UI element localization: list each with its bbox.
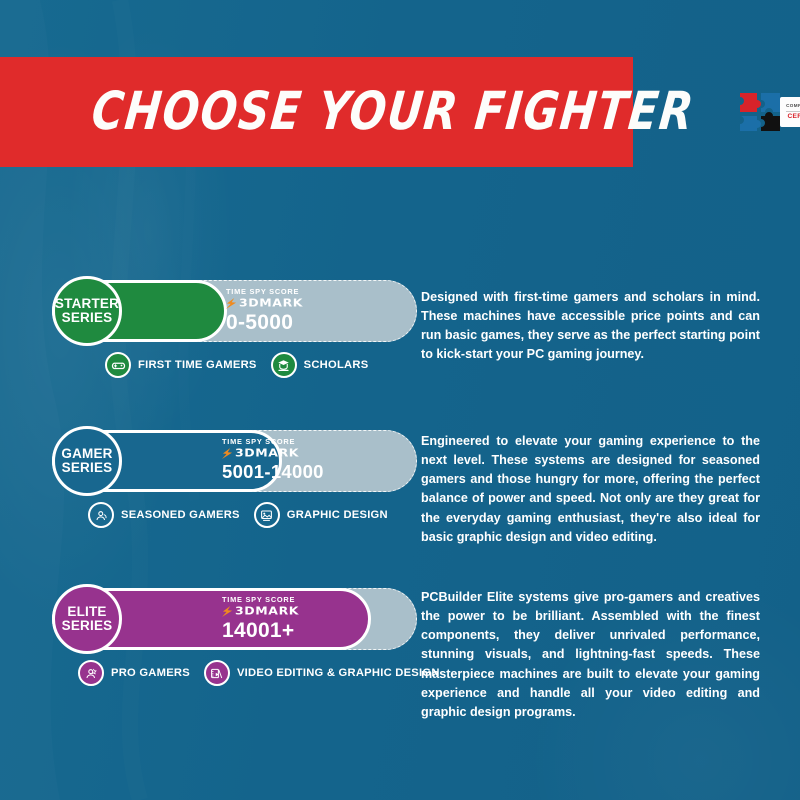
tag-video-editing-graphic-design[interactable]: VIDEO EDITING & GRAPHIC DESIGN <box>204 660 440 686</box>
3dmark-logo: 3DMARK <box>222 605 299 618</box>
description-elite: PCBuilder Elite systems give pro-gamers … <box>421 588 760 722</box>
score-label: TIME SPY SCORE <box>226 288 299 295</box>
series-badge-line1: STARTER <box>55 297 119 311</box>
tag-label: VIDEO EDITING & GRAPHIC DESIGN <box>237 667 440 679</box>
header-banner: CHOOSE YOUR FIGHTER COMPATIBILITY CERTIF… <box>0 57 633 167</box>
elite-tag-list: PRO GAMERS VIDEO EDITING & GRAPHIC DESIG… <box>78 660 440 686</box>
gamepad-icon <box>105 352 131 378</box>
3dmark-logo: 3DMARK <box>222 447 299 460</box>
graduation-desk-icon <box>271 352 297 378</box>
description-starter: Designed with first-time gamers and scho… <box>421 288 760 365</box>
score-label: TIME SPY SCORE <box>222 438 295 445</box>
lightning-bolt-icon <box>222 606 233 617</box>
tag-graphic-design[interactable]: GRAPHIC DESIGN <box>254 502 388 528</box>
tag-first-time-gamers[interactable]: FIRST TIME GAMERS <box>105 352 257 378</box>
gamer-score-block: TIME SPY SCORE 3DMARK 5001-14000 <box>222 438 324 481</box>
badge-divider <box>786 111 800 112</box>
series-badge-line2: SERIES <box>62 619 113 633</box>
headset-gamer-icon <box>88 502 114 528</box>
page-title: CHOOSE YOUR FIGHTER <box>89 86 697 138</box>
starter-score-block: TIME SPY SCORE 3DMARK 0-5000 <box>226 288 303 334</box>
graphic-design-icon <box>254 502 280 528</box>
starter-tag-list: FIRST TIME GAMERS SCHOLARS <box>105 352 368 378</box>
score-label: TIME SPY SCORE <box>222 596 295 603</box>
description-gamer: Engineered to elevate your gaming experi… <box>421 432 760 547</box>
film-edit-icon <box>204 660 230 686</box>
series-badge-line1: ELITE <box>67 605 106 619</box>
tag-label: SEASONED GAMERS <box>121 509 240 521</box>
series-badge-line2: SERIES <box>62 461 113 475</box>
series-badge-gamer[interactable]: GAMER SERIES <box>52 426 122 496</box>
elite-bar-area: ELITE SERIES TIME SPY SCORE 3DMARK 14001… <box>52 588 372 654</box>
elite-score-block: TIME SPY SCORE 3DMARK 14001+ <box>222 596 299 642</box>
score-value: 5001-14000 <box>222 462 324 481</box>
3dmark-logo: 3DMARK <box>226 297 303 310</box>
tag-label: GRAPHIC DESIGN <box>287 509 388 521</box>
pro-gamer-icon <box>78 660 104 686</box>
badge-top-text: COMPATIBILITY <box>786 104 800 109</box>
lightning-bolt-icon <box>226 298 237 309</box>
series-badge-starter[interactable]: STARTER SERIES <box>52 276 122 346</box>
series-badge-line2: SERIES <box>62 311 113 325</box>
score-value: 0-5000 <box>226 312 293 334</box>
series-badge-line1: GAMER <box>61 447 112 461</box>
tag-label: SCHOLARS <box>304 359 369 371</box>
3dmark-wordmark: 3DMARK <box>239 298 303 309</box>
compatibility-certified-badge: COMPATIBILITY CERTIFIED <box>738 91 800 133</box>
score-value: 14001+ <box>222 620 294 642</box>
tag-seasoned-gamers[interactable]: SEASONED GAMERS <box>88 502 240 528</box>
lightning-bolt-icon <box>222 448 233 459</box>
tag-scholars[interactable]: SCHOLARS <box>271 352 369 378</box>
series-badge-elite[interactable]: ELITE SERIES <box>52 584 122 654</box>
gamer-bar-area: GAMER SERIES TIME SPY SCORE 3DMARK 5001-… <box>52 430 372 496</box>
tag-label: PRO GAMERS <box>111 667 190 679</box>
tag-pro-gamers[interactable]: PRO GAMERS <box>78 660 190 686</box>
puzzle-pieces-icon <box>738 91 782 133</box>
gamer-tag-list: SEASONED GAMERS GRAPHIC DESIGN <box>88 502 388 528</box>
badge-bottom-text: CERTIFIED <box>787 114 800 121</box>
3dmark-wordmark: 3DMARK <box>235 606 299 617</box>
3dmark-wordmark: 3DMARK <box>235 448 299 459</box>
tag-label: FIRST TIME GAMERS <box>138 359 257 371</box>
starter-bar-area: STARTER SERIES TIME SPY SCORE 3DMARK 0-5… <box>52 280 372 346</box>
